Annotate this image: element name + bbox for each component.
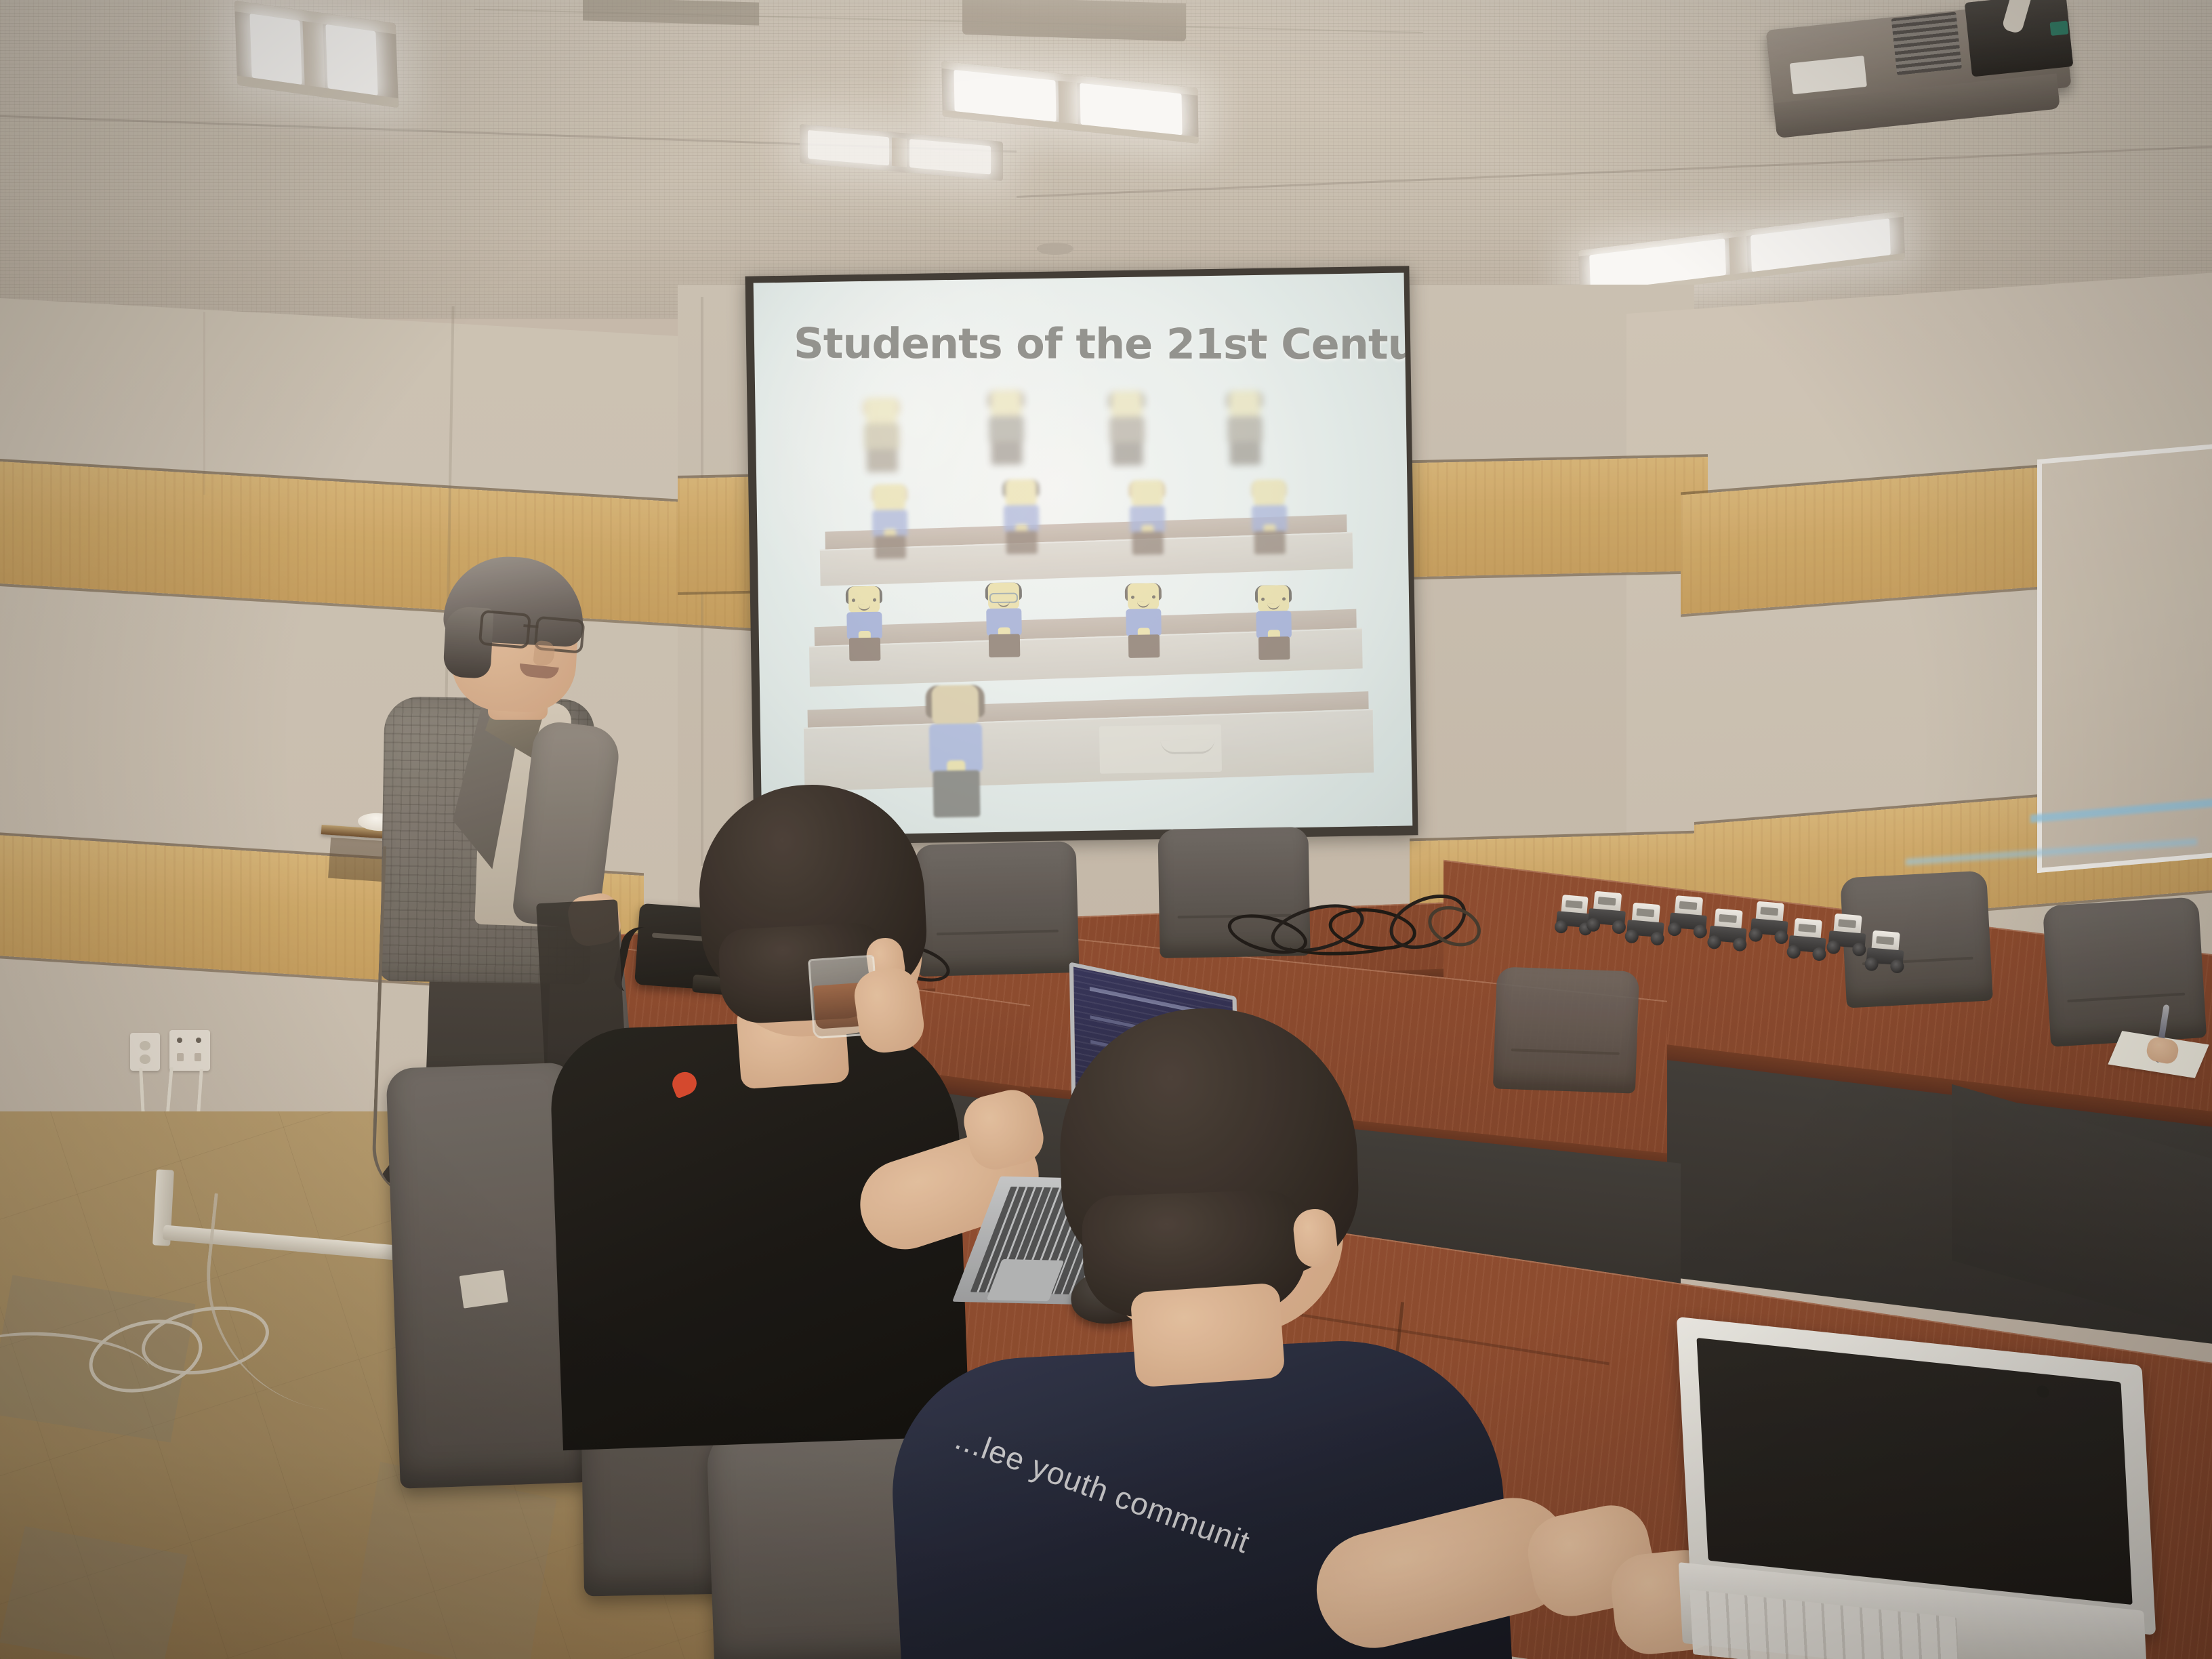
- wall-outlet[interactable]: [130, 1033, 160, 1071]
- attendee2-neck: [1130, 1282, 1285, 1387]
- tangled-cables: [1226, 890, 1479, 960]
- ceiling-vent: [962, 0, 1186, 41]
- slide-title: Students of the 21st Century: [794, 319, 1412, 369]
- lego-robot[interactable]: [1864, 930, 1907, 975]
- projection-screen: Students of the 21st Century: [745, 266, 1418, 845]
- lego-robot[interactable]: [1706, 908, 1749, 954]
- projector-connector: [2050, 20, 2069, 36]
- projector-vent: [1891, 12, 1962, 75]
- room-photo: Students of the 21st Century: [0, 0, 2212, 1659]
- ceiling-speaker: [1037, 243, 1073, 255]
- lego-robot[interactable]: [1786, 918, 1829, 963]
- lego-robot[interactable]: [1748, 901, 1791, 946]
- lego-robot[interactable]: [1826, 913, 1868, 958]
- lego-robot[interactable]: [1667, 895, 1710, 940]
- chair[interactable]: [2043, 897, 2207, 1047]
- laptop-white[interactable]: [1663, 1320, 2212, 1659]
- slide-desk-detail: [1160, 739, 1214, 754]
- wall-seam: [203, 312, 205, 495]
- slide-image-lego-classroom: [802, 375, 1372, 817]
- lego-robot[interactable]: [1624, 902, 1667, 947]
- projected-slide: Students of the 21st Century: [754, 272, 1413, 836]
- lego-robot[interactable]: [1586, 890, 1629, 936]
- wall-outlet[interactable]: [169, 1030, 210, 1071]
- laptop-white-screen: [1696, 1338, 2132, 1605]
- attendee-navy-tshirt: ...lee youth communit: [867, 969, 1613, 1659]
